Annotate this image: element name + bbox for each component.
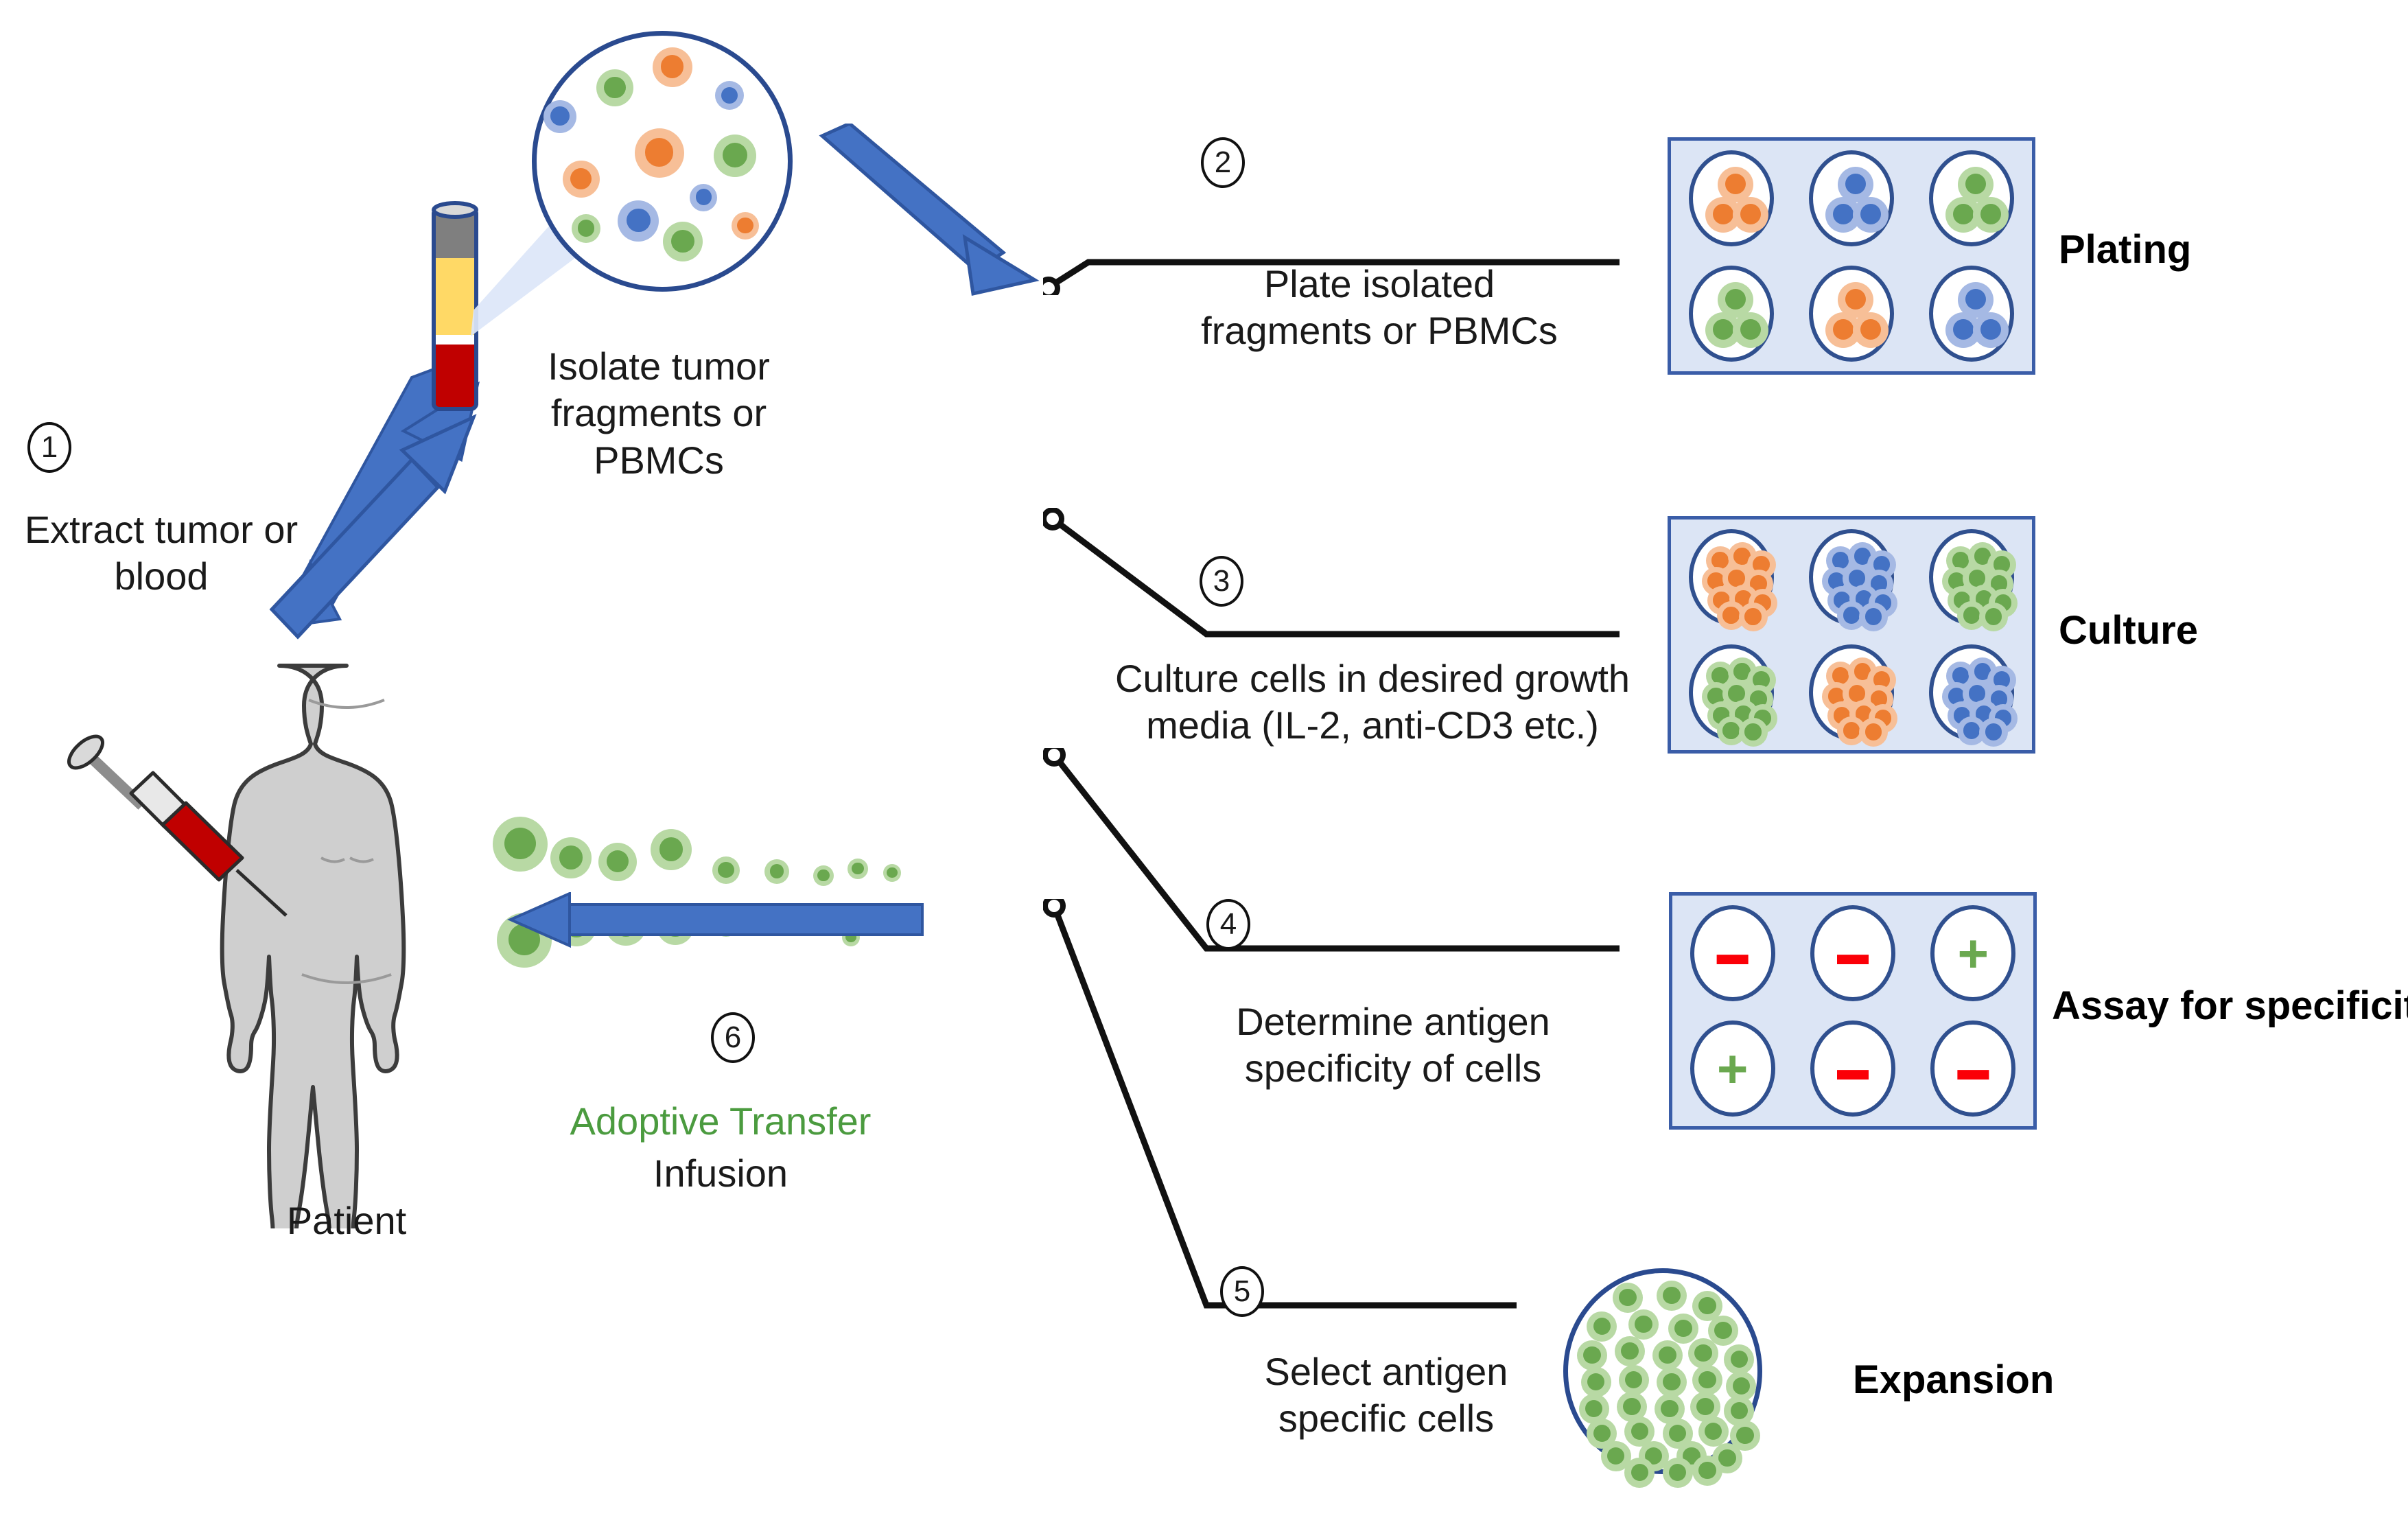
plate-well[interactable] (1929, 150, 2014, 246)
cell-nucleus (1694, 1344, 1712, 1362)
step-badge-5: 5 (1220, 1266, 1264, 1317)
cell (1973, 197, 2009, 233)
cell-nucleus (1980, 204, 2001, 224)
plate-well[interactable] (1809, 529, 1894, 625)
cell-nucleus (1744, 723, 1761, 740)
figure-canvas: 1 Extract tumor or blood (0, 0, 2408, 1540)
cell-nucleus (1860, 319, 1881, 340)
cell-nucleus (737, 218, 753, 233)
cell-nucleus (696, 189, 712, 205)
cell-nucleus (723, 143, 747, 167)
cell-nucleus (1725, 289, 1746, 310)
minus-sign-icon: ▬ (1694, 909, 1771, 997)
cell (598, 843, 637, 881)
expansion-label: Expansion (1853, 1357, 2054, 1403)
cell-nucleus (1865, 723, 1882, 740)
plating-label: Plating (2059, 226, 2191, 272)
cell-nucleus (1607, 1447, 1625, 1465)
plate-well[interactable] (1809, 644, 1894, 740)
cell (1663, 1458, 1693, 1488)
cell-nucleus (1713, 319, 1733, 340)
step-3-connector (1043, 508, 1633, 659)
plate-well[interactable]: + (1690, 1020, 1775, 1117)
cell (1577, 1340, 1607, 1370)
step-badge-6: 6 (711, 1012, 755, 1063)
cell-nucleus (1740, 204, 1761, 224)
cell-nucleus (627, 209, 651, 233)
step-2-label: Plate isolated fragments or PBMCs (1173, 261, 1585, 355)
cell-nucleus (578, 220, 594, 236)
cell (712, 856, 740, 884)
cell (1657, 1367, 1687, 1397)
cell (1652, 1340, 1683, 1370)
cell (715, 81, 744, 110)
plate-well[interactable] (1689, 529, 1774, 625)
cell-nucleus (1698, 1462, 1716, 1480)
cell-nucleus (1965, 289, 1986, 310)
cell-nucleus (1587, 1373, 1605, 1391)
plate-well[interactable] (1689, 266, 1774, 362)
cell (1859, 603, 1888, 631)
cell (651, 829, 692, 870)
cell-nucleus (1849, 685, 1865, 701)
cell (1613, 1283, 1643, 1313)
minus-sign-icon: ▬ (1814, 909, 1891, 997)
plate-well[interactable] (1689, 150, 1774, 246)
cell-nucleus (1625, 1371, 1643, 1389)
plate-well[interactable]: ▬ (1690, 905, 1775, 1001)
step-badge-1: 1 (27, 422, 71, 473)
plus-sign-icon: + (1694, 1025, 1771, 1112)
cell (1628, 1309, 1659, 1340)
cell (653, 47, 692, 87)
cell-nucleus (1619, 1289, 1637, 1307)
cell-nucleus (550, 106, 570, 126)
cell (1624, 1458, 1655, 1488)
cell-nucleus (1725, 174, 1746, 194)
cell-nucleus (1698, 1297, 1716, 1315)
cell (1587, 1311, 1617, 1342)
syringe-icon (65, 734, 292, 947)
cell (1615, 1336, 1645, 1366)
adoptive-transfer-label: Adoptive Transfer (542, 1098, 899, 1145)
cell (1733, 197, 1768, 233)
plate-well[interactable] (1929, 644, 2014, 740)
plate-plating (1668, 137, 2035, 375)
cell-nucleus (1969, 685, 1985, 701)
cell-nucleus (1736, 1427, 1754, 1445)
cell (1739, 718, 1768, 747)
step-badge-2: 2 (1201, 137, 1245, 188)
cell-nucleus (661, 55, 684, 78)
cell-nucleus (1733, 1377, 1751, 1395)
plate-well[interactable] (1689, 644, 1774, 740)
cell-nucleus (1985, 608, 2002, 625)
cell-nucleus (1711, 552, 1728, 568)
cell-nucleus (559, 845, 583, 870)
cell (572, 214, 600, 243)
cell-nucleus (1663, 1373, 1681, 1391)
plate-well[interactable]: ▬ (1810, 1020, 1895, 1117)
cell (1979, 603, 2008, 631)
cell-nucleus (1674, 1320, 1692, 1338)
cell (883, 864, 901, 882)
cell-nucleus (1635, 1316, 1652, 1333)
isolate-label: Isolate tumor fragments or PBMCs (508, 343, 810, 484)
cell-nucleus (1849, 570, 1865, 586)
minus-sign-icon: ▬ (1934, 1025, 2011, 1112)
cell-nucleus (1631, 1423, 1649, 1440)
cell-nucleus (1965, 174, 1986, 194)
cell-nucleus (1985, 723, 2002, 740)
cell (1724, 1344, 1754, 1375)
assay-label: Assay for specificity (2052, 983, 2408, 1029)
cell-nucleus (645, 138, 674, 167)
cell-nucleus (607, 850, 629, 872)
cell-nucleus (1698, 1371, 1716, 1389)
cell (1859, 718, 1888, 747)
cell (596, 69, 633, 106)
cell-nucleus (1623, 1398, 1641, 1416)
plate-well[interactable] (1929, 529, 2014, 625)
well-grid (1671, 520, 2032, 750)
cell-nucleus (1833, 319, 1854, 340)
cell-nucleus (1952, 552, 1969, 568)
cell-nucleus (1593, 1425, 1611, 1443)
cell-nucleus (817, 870, 829, 881)
cell (1853, 312, 1889, 348)
cell-nucleus (604, 77, 625, 98)
cell-nucleus (1860, 204, 1881, 224)
step-5-label: Select antigen specific cells (1221, 1349, 1551, 1443)
culture-label: Culture (2059, 607, 2198, 653)
cell-nucleus (570, 168, 592, 189)
cell-nucleus (1621, 1342, 1639, 1360)
cell-nucleus (1722, 607, 1739, 623)
step-badge-3: 3 (1200, 556, 1243, 607)
cell-nucleus (852, 863, 863, 874)
plate-well[interactable] (1809, 150, 1894, 246)
infusion-label: Infusion (542, 1150, 899, 1197)
plate-culture (1668, 516, 2035, 754)
cell-nucleus (887, 867, 897, 878)
cell-nucleus (659, 837, 683, 861)
cell-nucleus (1583, 1346, 1601, 1364)
cell (1853, 197, 1889, 233)
plate-well[interactable] (1809, 266, 1894, 362)
cell-nucleus (1711, 667, 1728, 684)
well-grid (1671, 141, 2032, 371)
cell (1979, 718, 2008, 747)
cell-nucleus (1713, 204, 1733, 224)
cell (1657, 1281, 1687, 1311)
step-5-connector (1043, 899, 1523, 1325)
cell (714, 135, 756, 177)
cell-nucleus (770, 864, 784, 878)
patient-label: Patient (206, 1198, 487, 1244)
cell-nucleus (1728, 570, 1744, 586)
cell-nucleus (721, 87, 738, 104)
cell-nucleus (1696, 1398, 1714, 1416)
cell-nucleus (1722, 722, 1739, 738)
cell-nucleus (1669, 1464, 1687, 1482)
cell (1668, 1314, 1698, 1344)
cell-nucleus (1744, 608, 1761, 625)
cell-nucleus (1631, 1464, 1649, 1482)
cell-nucleus (1728, 685, 1744, 701)
cell-nucleus (1659, 1346, 1676, 1364)
cell (690, 184, 717, 211)
cell-nucleus (1663, 1287, 1681, 1305)
plate-well[interactable]: ▬ (1930, 1020, 2015, 1117)
cell (1739, 603, 1768, 631)
cell-nucleus (1963, 607, 1980, 623)
cell-nucleus (1731, 1402, 1749, 1420)
cell (563, 161, 600, 198)
cell (493, 817, 548, 872)
infusion-arrow-icon (501, 892, 926, 954)
cell (1619, 1365, 1649, 1395)
cell (663, 222, 703, 261)
plate-well[interactable]: ▬ (1810, 905, 1895, 1001)
cell (1581, 1367, 1611, 1397)
cell-nucleus (1585, 1400, 1603, 1418)
cell (543, 100, 576, 133)
figure-caption (14, 1517, 2347, 1537)
cell-nucleus (1843, 607, 1860, 623)
cell-nucleus (1953, 319, 1974, 340)
magnified-sample-circle (532, 31, 793, 292)
cell-nucleus (1845, 289, 1866, 310)
plus-sign-icon: + (1934, 909, 2011, 997)
cell (635, 128, 684, 178)
step-3-label: Culture cells in desired growth media (I… (1071, 655, 1674, 749)
well-grid: ▬▬++▬▬ (1672, 896, 2033, 1126)
cell (618, 200, 659, 242)
plate-assay: ▬▬++▬▬ (1669, 892, 2037, 1130)
cell-nucleus (1980, 319, 2001, 340)
cell-nucleus (1731, 1351, 1749, 1368)
cell (764, 859, 789, 884)
cell-nucleus (718, 862, 734, 878)
cell-nucleus (1714, 1322, 1732, 1340)
plate-well[interactable] (1929, 266, 2014, 362)
cell (813, 865, 834, 886)
cell-nucleus (1705, 1423, 1722, 1440)
cell-nucleus (1661, 1400, 1679, 1418)
cell (848, 859, 868, 879)
expansion-circle (1563, 1268, 1762, 1474)
minus-sign-icon: ▬ (1814, 1025, 1891, 1112)
cell (1733, 312, 1768, 348)
cell (1973, 312, 2009, 348)
cell-nucleus (1845, 174, 1866, 194)
isolate-to-plate-arrow-icon (817, 124, 1064, 316)
cell (550, 837, 592, 878)
cell-nucleus (504, 828, 536, 859)
cell-nucleus (1865, 608, 1882, 625)
cell (732, 212, 759, 240)
cell-nucleus (1832, 667, 1849, 684)
cell-nucleus (671, 230, 694, 253)
cell-nucleus (1669, 1425, 1687, 1443)
cell (1692, 1456, 1722, 1486)
plate-well[interactable]: + (1930, 905, 2015, 1001)
cell-nucleus (1963, 722, 1980, 738)
cell-nucleus (1832, 552, 1849, 568)
cell-nucleus (1740, 319, 1761, 340)
cell-nucleus (1593, 1318, 1611, 1335)
cell-nucleus (1969, 570, 1985, 586)
cell-nucleus (1952, 667, 1969, 684)
cell (1692, 1365, 1722, 1395)
cell-nucleus (1953, 204, 1974, 224)
cell (1688, 1338, 1718, 1368)
cell-nucleus (1843, 722, 1860, 738)
cell-nucleus (1833, 204, 1854, 224)
cell (1698, 1416, 1729, 1447)
